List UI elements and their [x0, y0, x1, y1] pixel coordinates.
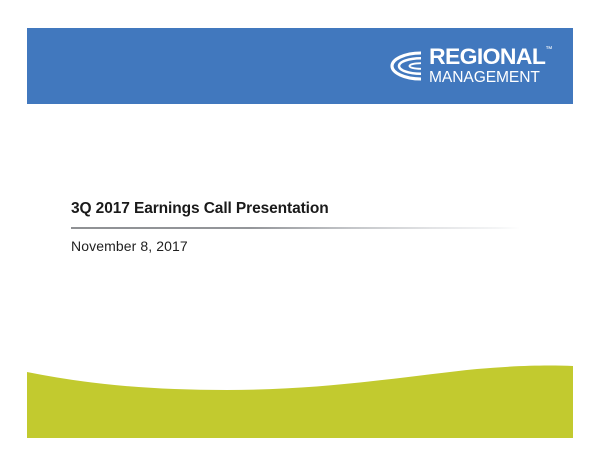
- wave-shape: [27, 366, 573, 438]
- swoosh-arcs-icon: [388, 49, 424, 83]
- presentation-date: November 8, 2017: [71, 238, 523, 254]
- trademark-icon: ™: [545, 46, 552, 53]
- title-divider: [71, 227, 520, 229]
- title-block: 3Q 2017 Earnings Call Presentation Novem…: [71, 200, 523, 254]
- presentation-title-slide: REGIONAL™ MANAGEMENT 3Q 2017 Earnings Ca…: [0, 0, 600, 464]
- logo-name-primary: REGIONAL™: [429, 46, 545, 69]
- logo-name-primary-text: REGIONAL: [429, 44, 545, 69]
- header-banner: REGIONAL™ MANAGEMENT: [27, 28, 573, 104]
- logo-name-secondary: MANAGEMENT: [429, 70, 543, 86]
- footer-wave-graphic: [27, 360, 573, 438]
- page-title: 3Q 2017 Earnings Call Presentation: [71, 200, 523, 218]
- logo-wordmark: REGIONAL™ MANAGEMENT: [429, 46, 543, 85]
- company-logo: REGIONAL™ MANAGEMENT: [388, 44, 543, 88]
